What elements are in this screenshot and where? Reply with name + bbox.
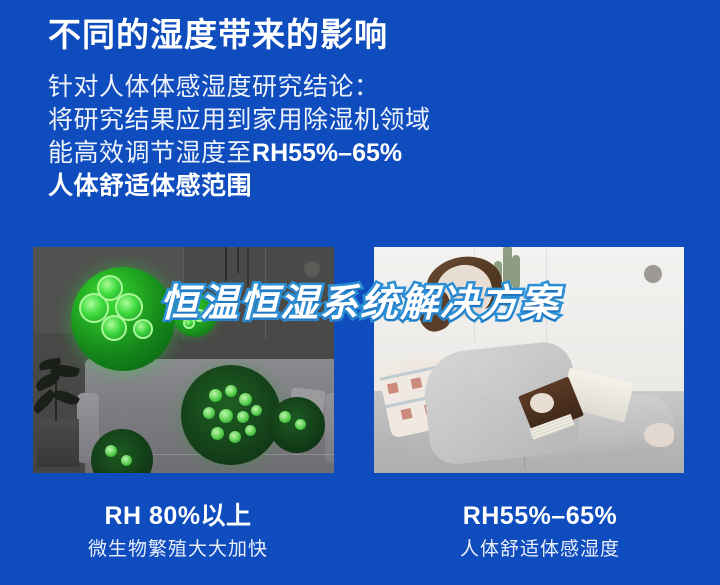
plant-pot (37, 419, 79, 467)
intro-line-3-prefix: 能高效调节湿度至 (48, 139, 252, 167)
page-title: 不同的湿度带来的影响 (48, 14, 688, 55)
microbe-cell (105, 445, 117, 457)
microbe-sphere-bottom (181, 365, 281, 465)
microbe-cell (211, 427, 224, 440)
caption-left: RH 80%以上 微生物繁殖大大加快 (8, 500, 348, 564)
caption-left-sub: 微生物繁殖大大加快 (8, 536, 348, 564)
caption-left-main: RH 80%以上 (8, 500, 348, 532)
microbe-cell (209, 389, 222, 402)
sofa-arm-right (325, 393, 334, 463)
microbe-cell (245, 425, 256, 436)
microbe-cell (251, 405, 262, 416)
microbe-cell (203, 407, 215, 419)
microbe-cell (229, 431, 241, 443)
humidity-infographic-poster: 不同的湿度带来的影响 针对人体体感湿度研究结论： 将研究结果应用到家用除湿机领域… (0, 0, 720, 585)
overlay-headline: 恒温恒湿系统解决方案 (0, 272, 720, 327)
intro-line-2: 将研究结果应用到家用除湿机领域 (48, 104, 688, 137)
microbe-cell (121, 455, 132, 466)
heading-block: 不同的湿度带来的影响 针对人体体感湿度研究结论： 将研究结果应用到家用除湿机领域… (48, 14, 688, 203)
microbe-cell (225, 385, 237, 397)
person-hand (530, 393, 554, 413)
pendant-cord (237, 247, 239, 273)
intro-line-4: 人体舒适体感范围 (48, 170, 688, 203)
person-foot (644, 423, 674, 447)
microbe-cell (279, 411, 291, 423)
microbe-cell (239, 393, 252, 406)
intro-paragraph: 针对人体体感湿度研究结论： 将研究结果应用到家用除湿机领域 能高效调节湿度至RH… (48, 71, 688, 203)
intro-line-1: 针对人体体感湿度研究结论： (48, 71, 688, 104)
intro-line-3: 能高效调节湿度至RH55%–65% (48, 137, 688, 170)
caption-right: RH55%–65% 人体舒适体感湿度 (370, 500, 710, 564)
microbe-cell (295, 419, 306, 430)
caption-right-sub: 人体舒适体感湿度 (370, 536, 710, 564)
microbe-cell (219, 409, 233, 423)
caption-right-main: RH55%–65% (370, 500, 710, 532)
caption-row: RH 80%以上 微生物繁殖大大加快 RH55%–65% 人体舒适体感湿度 (0, 500, 720, 585)
microbe-cell (237, 411, 249, 423)
intro-line-3-range: RH55%–65% (252, 139, 402, 167)
microbe-sphere-bottom (269, 397, 325, 453)
